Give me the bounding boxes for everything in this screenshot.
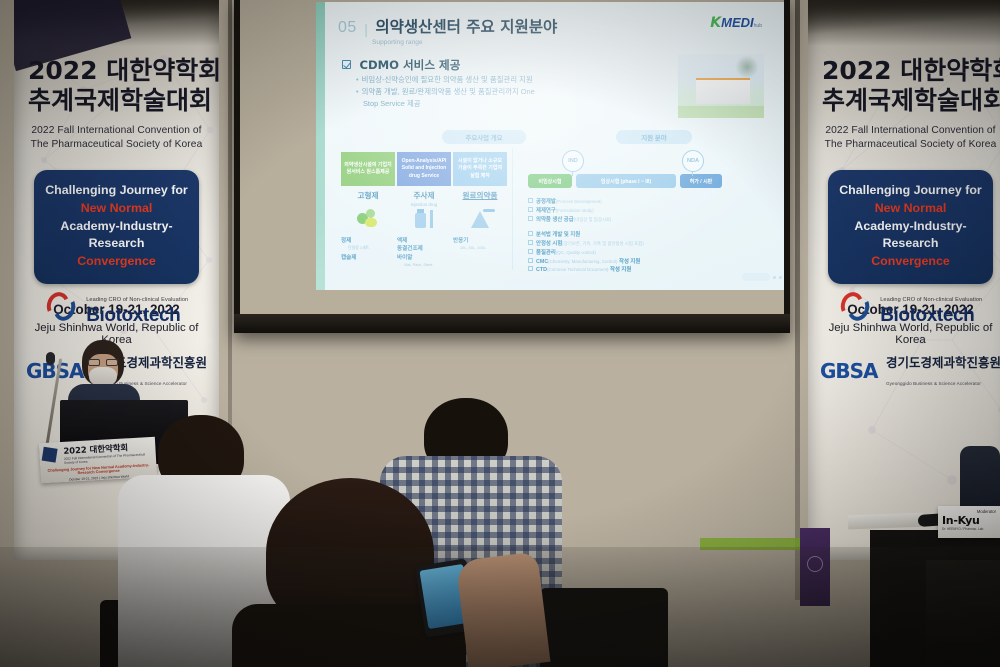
slide-tag-left: 주요사업 개요 bbox=[442, 130, 526, 144]
column-items-2: 반응기 10L, 50L, 100L bbox=[453, 237, 509, 251]
development-timeline: 비임상시험 임상시험 (phase I ~ III) 허가 / 시판 IND N… bbox=[528, 152, 756, 190]
support-checklist: 공정개발(Process Development) 제제연구(Formulati… bbox=[528, 198, 758, 275]
biotoxtech-mark-icon bbox=[45, 290, 79, 324]
banner-right-theme-line1: Challenging Journey for bbox=[834, 182, 987, 200]
gbsa-logo-right: GBSA 경기도경제과학진흥원 Gyeonggido Business & Sc… bbox=[808, 352, 1000, 390]
biotoxtech-logo-right: Leading CRO of Non-clinical Evaluation B… bbox=[808, 288, 1000, 326]
slide-section-heading: CDMO 서비스 제공 bbox=[342, 56, 460, 74]
floor-shadow bbox=[0, 547, 1000, 667]
service-box-1: Open-Analysis/API Solid and Injection dr… bbox=[397, 152, 451, 186]
biotoxtech-logo: Leading CRO of Non-clinical Evaluation B… bbox=[14, 288, 219, 326]
checklist-item-g2-1: 안정성 시험(장기보존, 가속, 가혹 및 광안정성 시험 포함) bbox=[528, 240, 758, 249]
slide-subtitle: Supporting range bbox=[372, 39, 557, 46]
banner-korean-title-line2: 추계국제학술대회 bbox=[28, 86, 205, 116]
microphone-head bbox=[46, 352, 55, 365]
slide-separator: | bbox=[364, 21, 368, 37]
projection-screen-frame: 05 | 의약생산센터 주요 지원분야 Supporting range KME… bbox=[234, 0, 790, 333]
eyeglasses-icon bbox=[88, 359, 118, 366]
gbsa-english-name-right: Gyeonggido Business & Science Accelerato… bbox=[886, 381, 981, 386]
column-label-0: 고형제 bbox=[341, 190, 395, 202]
tree-silhouette bbox=[734, 56, 760, 78]
banner-english-title-line2: The Pharmaceutical Society of Korea bbox=[28, 138, 205, 152]
timeline-segment-0: 비임상시험 bbox=[528, 174, 572, 188]
banner-theme-line3: Academy-Industry-Research bbox=[40, 218, 193, 254]
checklist-item-g2-2: 품질관리(QC, Quality control) bbox=[528, 249, 758, 258]
gbsa-wordmark-right: GBSA bbox=[820, 359, 878, 383]
banner-english-title-line1: 2022 Fall International Convention of bbox=[28, 124, 205, 138]
podium-sign-logo bbox=[42, 447, 58, 463]
biotoxtech-name-right: Biotoxtech bbox=[880, 305, 974, 326]
gbsa-korean-name-right: 경기도경제과학진흥원 bbox=[886, 355, 1000, 370]
column-label-1: 주사제 Injection drug bbox=[397, 190, 451, 207]
slide-accent-bar bbox=[316, 2, 325, 290]
conference-room-photo: 2022 대한약학회 추계국제학술대회 2022 Fall Internatio… bbox=[0, 0, 1000, 667]
slide-header: 05 | 의약생산센터 주요 지원분야 Supporting range bbox=[338, 15, 557, 46]
column-items-0: 정제 단일정 1세트 캡슐제 bbox=[341, 237, 397, 262]
checklist-item-g1-0: 공정개발(Process Development) bbox=[528, 198, 758, 207]
biotoxtech-tagline-right: Leading CRO of Non-clinical Evaluation bbox=[880, 297, 982, 303]
slide-page-indicator bbox=[742, 273, 770, 281]
timeline-pin-ind: IND bbox=[562, 150, 584, 172]
screen-bottom-bar bbox=[234, 314, 790, 333]
banner-right-theme-box: Challenging Journey for New Normal Acade… bbox=[828, 170, 993, 285]
vial-syringe-icon bbox=[397, 207, 451, 233]
timeline-segment-2: 허가 / 시판 bbox=[680, 174, 722, 188]
kmedi-medi-text: MEDI bbox=[721, 15, 754, 30]
flask-icon bbox=[453, 207, 507, 233]
biotoxtech-name: Biotoxtech bbox=[86, 305, 180, 326]
banner-theme-line1: Challenging Journey for bbox=[40, 182, 193, 200]
service-box-2: 시설이 없거나 소규모 기술이 부족한 기업의 실험 제작 bbox=[453, 152, 507, 186]
slide-dot-2 bbox=[779, 276, 782, 279]
banner-right-korean-title-line2: 추계국제학술대회 bbox=[822, 86, 999, 116]
banner-right-korean-title-line1: 2022 대한약학회 bbox=[822, 56, 999, 86]
slide-section-title: CDMO 서비스 제공 bbox=[359, 57, 460, 73]
name-card-affiliation: Dr. HEEMYO / Pharmac. Lab. bbox=[942, 527, 996, 531]
kmedi-k-letter: K bbox=[710, 15, 721, 31]
banner-korean-title-line1: 2022 대한약학회 bbox=[28, 56, 205, 86]
banner-theme-line4: Convergence bbox=[40, 253, 193, 271]
banner-right-english-title-line2: The Pharmaceutical Society of Korea bbox=[822, 138, 999, 152]
column-label-2: 원료의약품 bbox=[453, 190, 507, 202]
timeline-pin-nda: NDA bbox=[682, 150, 704, 172]
slide-divider bbox=[512, 148, 513, 270]
banner-right-english-title-line1: 2022 Fall International Convention of bbox=[822, 124, 999, 138]
checklist-item-g2-4: CTD(Common Technical Document) 작성 지원 bbox=[528, 266, 758, 275]
kmedi-hub-logo: KMEDIhub bbox=[710, 14, 762, 32]
biotoxtech-mark-icon-right bbox=[839, 290, 873, 324]
building-facade bbox=[696, 80, 750, 104]
banner-right-theme-line4: Convergence bbox=[834, 253, 987, 271]
wall-seam-right bbox=[795, 0, 800, 600]
biotoxtech-tagline: Leading CRO of Non-clinical Evaluation bbox=[86, 297, 188, 303]
checklist-item-g1-2: 의약품 생산 공급(비임상 및 임상시료) bbox=[528, 216, 758, 225]
slide-tag-right: 지원 분야 bbox=[616, 130, 692, 144]
banner-right-location: Jeju Shinhwa World, Republic of Korea bbox=[822, 322, 999, 346]
pills-icon bbox=[341, 207, 395, 233]
banner-theme-line2: New Normal bbox=[40, 200, 193, 218]
moderator-name-card: Moderator In-Kyu Dr. HEEMYO / Pharmac. L… bbox=[938, 506, 1000, 538]
slide-number: 05 bbox=[338, 19, 357, 37]
banner-theme-box: Challenging Journey for New Normal Acade… bbox=[34, 170, 199, 285]
banner-right-theme-line2: New Normal bbox=[834, 200, 987, 218]
presentation-slide: 05 | 의약생산센터 주요 지원분야 Supporting range KME… bbox=[316, 2, 784, 290]
name-card-name: In-Kyu bbox=[942, 514, 996, 527]
table-papers bbox=[848, 513, 924, 530]
banner-right-theme-line3: Academy-Industry-Research bbox=[834, 218, 987, 254]
slide-bullet-2: Stop Service 제공 bbox=[363, 98, 626, 110]
kmedi-hub-text: hub bbox=[754, 23, 762, 29]
slide-dot-1 bbox=[773, 276, 776, 279]
slide-bullet-1: •의약품 개발, 원료/완제의약품 생산 및 품질관리까지 One bbox=[356, 86, 626, 98]
checkbox-icon bbox=[342, 60, 351, 69]
facility-building-photo bbox=[678, 54, 764, 118]
slide-bullet-list: •비임상-신약승인에 필요한 의약품 생산 및 품질관리 지원 •의약품 개발,… bbox=[356, 74, 626, 110]
column-items-1: 액제 동결건조제 바이알 Vial, Pack, Stent bbox=[397, 237, 453, 268]
timeline-segment-1: 임상시험 (phase I ~ III) bbox=[576, 174, 676, 188]
checklist-item-g2-3: CMC(Chemistry, Manufacturing, Control) 작… bbox=[528, 258, 758, 267]
checklist-item-g2-0: 분석법 개발 및 지원 bbox=[528, 231, 758, 240]
checklist-item-g1-1: 제제연구(Formulation study) bbox=[528, 207, 758, 216]
service-box-0: 의약생산시설의 기업지원서비스 원스톱제공 bbox=[341, 152, 395, 186]
lawn bbox=[678, 106, 764, 118]
slide-bullet-0: •비임상-신약승인에 필요한 의약품 생산 및 품질관리 지원 bbox=[356, 74, 626, 86]
slide-title: 의약생산센터 주요 지원분야 bbox=[375, 15, 557, 37]
